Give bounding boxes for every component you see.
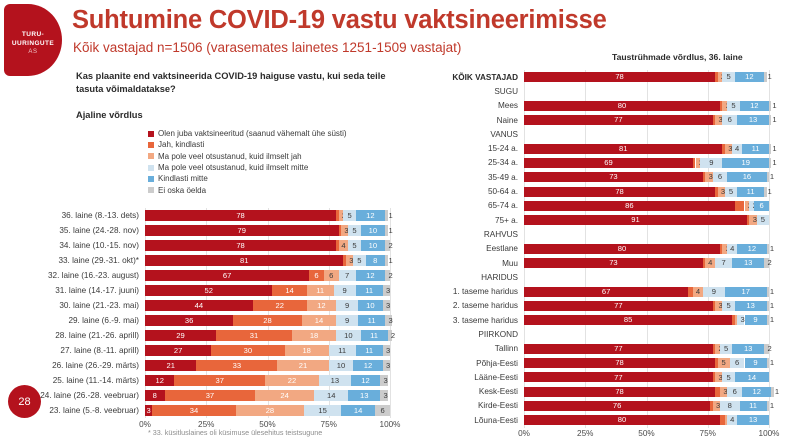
bar-segment: 1: [767, 287, 769, 297]
bar-segment-value: 24: [280, 392, 288, 400]
chart-row-label: HARIDUS: [424, 273, 524, 282]
bar-segment: 6: [324, 270, 339, 281]
chart-bar-row: PIIRKOND: [424, 327, 769, 341]
bar-segment: 69: [524, 158, 693, 168]
legend-swatch-icon: [148, 187, 154, 193]
bar-segment: 81: [524, 144, 722, 154]
bar-segment-value: 12: [750, 102, 758, 110]
bar-segment: 9: [745, 358, 767, 368]
stacked-bar: 78125121: [145, 210, 390, 221]
chart-bar-row: Tallinn77125132: [424, 342, 769, 356]
bar-segment-value: 77: [614, 345, 622, 353]
bar-segment-value: 85: [624, 316, 632, 324]
bar-segment-value: 9: [345, 302, 349, 310]
bar-segment-value: 3: [384, 377, 388, 385]
footnote: * 33. küsitluslaines oli küsimuse üleseh…: [148, 428, 322, 437]
stacked-bar: 77125132: [524, 344, 769, 354]
bar-segment-value: 4: [341, 242, 345, 250]
bar-segment: 3: [341, 225, 348, 236]
bar-segment: 11: [742, 144, 769, 154]
bar-segment: 10: [358, 300, 383, 311]
bar-segment: 4: [705, 258, 715, 268]
bar-segment: 3: [380, 390, 387, 401]
bar-segment-value: 1: [770, 288, 774, 296]
chart-bar-row: Kesk-Eesti78236121: [424, 385, 769, 399]
stacked-bar: 79135101: [145, 225, 390, 236]
bar-segment: 7: [715, 258, 732, 268]
bar-segment-value: 11: [370, 332, 378, 340]
bar-segment-value: 1: [767, 73, 771, 81]
bar-segment: 1: [767, 172, 769, 182]
chart-bar-row: 30. laine (21.-23. mai)4422129103: [2, 298, 390, 313]
bar-segment: 30: [211, 345, 285, 356]
bar-segment-value: 5: [726, 73, 730, 81]
bar-segment-value: 2: [388, 242, 392, 250]
bar-segment-value: 10: [369, 242, 377, 250]
bar-segment: 2: [764, 258, 769, 268]
bar-segment: 36: [145, 315, 233, 326]
right-chart-taustruhmade-vordlus: KÕIK VASTAJAD78125121SUGUMees80125121Nai…: [424, 70, 769, 441]
legend-item-label: Ma pole veel otsustanud, kuid ilmselt mi…: [158, 163, 308, 172]
bar-segment: 6: [722, 115, 737, 125]
bar-segment-value: 91: [631, 216, 639, 224]
bar-segment: 6: [713, 172, 728, 182]
bar-segment-value: 11: [338, 347, 346, 355]
bar-segment: 12: [735, 72, 764, 82]
chart-bar-row: 1. taseme haridus67249171: [424, 284, 769, 298]
bar-segment: 77: [524, 344, 713, 354]
chart-row-label: RAHVUS: [424, 230, 524, 239]
bar-segment-value: 7: [722, 259, 726, 267]
bar-segment-value: 5: [722, 359, 726, 367]
bar-segment-value: 5: [731, 102, 735, 110]
bar-segment-value: 6: [314, 272, 318, 280]
legend-item-label: Ma pole veel otsustanud, kuid ilmselt ja…: [158, 152, 302, 161]
bar-segment-value: 22: [288, 377, 296, 385]
chart-row-label: 50-64 a.: [424, 187, 524, 196]
bar-segment-value: 3: [386, 302, 390, 310]
chart-bar-row: 26. laine (26.-29. märts)21332110123: [2, 358, 390, 373]
bar-segment: 5: [757, 215, 769, 225]
bar-segment-value: 1: [388, 212, 392, 220]
bar-segment-value: 81: [240, 257, 248, 265]
bar-segment-value: 5: [357, 257, 361, 265]
bar-segment: 3: [346, 255, 353, 266]
bar-segment: 5: [348, 225, 360, 236]
bar-segment-value: 22: [276, 302, 284, 310]
bar-segment: 27: [145, 345, 211, 356]
stacked-bar: 78125121: [524, 72, 769, 82]
bar-segment: 2: [388, 330, 393, 341]
chart-row-label: Lääne-Eesti: [424, 373, 524, 382]
bar-segment: 44: [145, 300, 253, 311]
bar-segment-value: 11: [365, 347, 373, 355]
bar-segment: 22: [265, 375, 319, 386]
chart-row-label: 26. laine (26.-29. märts): [2, 361, 145, 370]
bar-segment: 17: [725, 287, 767, 297]
chart-row-label: Naine: [424, 116, 524, 125]
bar-segment: 85: [524, 315, 732, 325]
bar-segment: 8: [145, 390, 165, 401]
bar-segment-value: 13: [331, 377, 339, 385]
bar-segment-value: 77: [614, 116, 622, 124]
bar-segment-value: 4: [708, 259, 712, 267]
bar-segment: 15: [304, 405, 341, 416]
chart-row-label: SUGU: [424, 87, 524, 96]
bar-segment: 24: [255, 390, 314, 401]
stacked-bar: 8021413: [524, 415, 769, 425]
bar-segment: 77: [524, 372, 713, 382]
stacked-bar: [524, 272, 769, 282]
bar-segment: 3: [715, 372, 722, 382]
bar-segment-value: 12: [364, 362, 372, 370]
bar-segment-value: 1: [772, 145, 776, 153]
bar-segment-value: 10: [337, 362, 345, 370]
bar-segment: 14: [272, 285, 306, 296]
bar-segment-value: 11: [316, 287, 324, 295]
bar-segment: 4: [735, 201, 745, 211]
bar-segment-value: 2: [767, 259, 771, 267]
bar-segment-value: 76: [613, 402, 621, 410]
bar-segment: 3: [380, 375, 387, 386]
bar-segment-value: 1: [775, 388, 779, 396]
bar-segment: 81: [145, 255, 343, 266]
stacked-bar: 69129191: [524, 158, 769, 168]
bar-segment-value: 13: [749, 116, 757, 124]
chart-row-label: 35-49 a.: [424, 173, 524, 182]
bar-segment-value: 28: [263, 317, 271, 325]
chart-bar-row: 27. laine (8.-11. aprill)27301811113: [2, 343, 390, 358]
bar-segment: 37: [165, 390, 256, 401]
bar-segment-value: 1: [770, 245, 774, 253]
bar-segment-value: 31: [250, 332, 258, 340]
chart-row-label: 32. laine (16.-23. august): [2, 271, 145, 280]
bar-segment: 11: [356, 345, 383, 356]
bar-segment: 3: [737, 315, 744, 325]
bar-segment: 12: [145, 375, 174, 386]
bar-segment: 33: [196, 360, 277, 371]
page-number-badge: 28: [8, 385, 41, 418]
bar-segment-value: 5: [352, 227, 356, 235]
bar-segment: 14: [341, 405, 375, 416]
chart-bar-row: HARIDUS: [424, 270, 769, 284]
bar-segment: 77: [524, 301, 713, 311]
chart-rows: KÕIK VASTAJAD78125121SUGUMees80125121Nai…: [424, 70, 769, 427]
legend-swatch-icon: [148, 153, 154, 159]
logo-line-2: UURINGUTE: [4, 39, 62, 48]
chart-row-label: 33. laine (29.-31. okt)*: [2, 256, 145, 265]
legend-swatch-icon: [148, 131, 154, 137]
stacked-bar: 8511391: [524, 315, 769, 325]
chart-row-label: 36. laine (8.-13. dets): [2, 211, 145, 220]
axis-tick-label: 75%: [700, 429, 716, 438]
bar-segment-value: 21: [299, 362, 307, 370]
bar-segment: 9: [703, 287, 725, 297]
bar-segment-value: 9: [709, 159, 713, 167]
legend-item: Kindlasti mitte: [148, 173, 347, 184]
bar-segment-value: 11: [747, 188, 755, 196]
axis-tick-label: 100%: [380, 420, 401, 429]
stacked-bar: 5214119113: [145, 285, 390, 296]
bar-segment: 3: [720, 387, 727, 397]
chart-row-label: 1. taseme haridus: [424, 287, 524, 296]
bar-segment-value: 5: [347, 212, 351, 220]
bar-segment: 5: [343, 210, 355, 221]
legend-item: Ei oska öelda: [148, 184, 347, 195]
bar-segment: 13: [348, 390, 380, 401]
bar-segment: 78: [524, 187, 715, 197]
bar-segment-value: 9: [753, 359, 757, 367]
x-axis: 0%25%50%75%100%: [524, 427, 769, 441]
bar-segment: 86: [524, 201, 735, 211]
chart-row-label: Põhja-Eesti: [424, 359, 524, 368]
bar-segment-value: 78: [615, 73, 623, 81]
chart-row-label: 35. laine (24.-28. nov): [2, 226, 145, 235]
stacked-bar: 7815691: [524, 358, 769, 368]
logo-line-3: AS: [4, 48, 62, 57]
bar-segment-value: 5: [761, 216, 765, 224]
stacked-bar: 8372414133: [145, 390, 390, 401]
bar-segment: 11: [329, 345, 356, 356]
axis-tick-label: 0%: [518, 429, 530, 438]
bar-segment: 76: [524, 401, 710, 411]
legend-swatch-icon: [148, 165, 154, 171]
bar-segment-value: 2: [388, 272, 392, 280]
bar-segment-value: 1: [770, 173, 774, 181]
bar-segment: 52: [145, 285, 272, 296]
bar-segment: 1: [767, 401, 769, 411]
chart-legend: Olen juba vaktsineeritud (saanud vähemal…: [148, 128, 347, 196]
bar-segment-value: 19: [741, 159, 749, 167]
bar-segment: 4: [727, 244, 737, 254]
bar-segment-value: 86: [625, 202, 633, 210]
legend-swatch-icon: [148, 176, 154, 182]
bar-segment-value: 33: [233, 362, 241, 370]
bar-segment-value: 78: [236, 242, 244, 250]
stacked-bar: 12372213123: [145, 375, 390, 386]
stacked-bar: 81134111: [524, 144, 769, 154]
chart-row-label: 29. laine (6.-9. mai): [2, 316, 145, 325]
bar-segment-value: 14: [327, 392, 335, 400]
bar-segment-value: 52: [204, 287, 212, 295]
bar-segment: 28: [236, 405, 305, 416]
bar-segment-value: 73: [609, 173, 617, 181]
bar-segment-value: 78: [615, 388, 623, 396]
bar-segment-value: 3: [384, 392, 388, 400]
stacked-bar: 73136161: [524, 172, 769, 182]
bar-segment-value: 1: [770, 359, 774, 367]
bar-segment-value: 4: [730, 245, 734, 253]
bar-segment: 13: [732, 258, 764, 268]
bar-segment: 10: [361, 240, 386, 251]
bar-segment-value: 34: [190, 407, 198, 415]
bar-segment: 21: [145, 360, 196, 371]
bar-segment-value: 29: [176, 332, 184, 340]
bar-segment-value: 80: [618, 416, 626, 424]
legend-item: Jah, kindlasti: [148, 139, 347, 150]
legend-item-label: Jah, kindlasti: [158, 140, 204, 149]
bar-segment: 11: [361, 330, 388, 341]
chart-bar-row: 31. laine (14.-17. juuni)5214119113: [2, 283, 390, 298]
bar-segment-value: 77: [614, 302, 622, 310]
stacked-bar: [524, 86, 769, 96]
bar-segment: 9: [334, 285, 356, 296]
bar-segment: 73: [524, 258, 703, 268]
stacked-bar: 864226: [524, 201, 769, 211]
bar-segment: 9: [700, 158, 722, 168]
bar-segment: 3: [383, 360, 390, 371]
bar-segment: 3: [718, 187, 725, 197]
bar-segment: 79: [145, 225, 339, 236]
bar-segment: 12: [353, 360, 382, 371]
stacked-bar: 76138111: [524, 401, 769, 411]
bar-segment: 9: [745, 315, 767, 325]
bar-segment: 12: [307, 300, 336, 311]
bar-segment: 12: [737, 244, 766, 254]
bar-segment-value: 80: [618, 102, 626, 110]
bar-segment-value: 1: [770, 302, 774, 310]
bar-segment: 1: [764, 187, 766, 197]
chart-rows: 36. laine (8.-13. dets)7812512135. laine…: [2, 208, 390, 418]
stacked-bar: 29311810112: [145, 330, 390, 341]
bar-segment: 34: [152, 405, 235, 416]
bar-segment-value: 8: [153, 392, 157, 400]
legend-item: Olen juba vaktsineeritud (saanud vähemal…: [148, 128, 347, 139]
bar-segment-value: 8: [373, 257, 377, 265]
bar-segment: 5: [725, 187, 737, 197]
stacked-bar: 80124121: [524, 244, 769, 254]
chart-row-label: 25. laine (11.-14. märts): [2, 376, 145, 385]
bar-segment-value: 1: [772, 116, 776, 124]
chart-bar-row: KÕIK VASTAJAD78125121: [424, 70, 769, 84]
chart-bar-row: Kirde-Eesti76138111: [424, 399, 769, 413]
bar-segment-value: 3: [386, 287, 390, 295]
chart-bar-row: VANUS: [424, 127, 769, 141]
bar-segment-value: 12: [366, 212, 374, 220]
bar-segment: 9: [336, 300, 358, 311]
bar-segment-value: 8: [728, 402, 732, 410]
stacked-bar: 67667122: [145, 270, 390, 281]
stacked-bar: [524, 329, 769, 339]
bar-segment: 6: [375, 405, 390, 416]
bar-segment-value: 14: [354, 407, 362, 415]
legend-swatch-icon: [148, 142, 154, 148]
bar-segment-value: 6: [381, 407, 385, 415]
bar-segment-value: 7: [345, 272, 349, 280]
bar-segment: 6: [727, 387, 742, 397]
bar-segment-value: 78: [236, 212, 244, 220]
chart-bar-row: 24. laine (26.-28. veebruar)8372414133: [2, 388, 390, 403]
chart-row-label: 28. laine (21.-26. aprill): [2, 331, 145, 340]
bar-segment: 10: [329, 360, 354, 371]
bar-segment-value: 12: [753, 388, 761, 396]
bar-segment: 11: [307, 285, 334, 296]
bar-segment-value: 18: [302, 347, 310, 355]
bar-segment-value: 13: [746, 302, 754, 310]
bar-segment: 9: [336, 315, 358, 326]
bar-segment: 1: [767, 244, 769, 254]
axis-tick-label: 25%: [577, 429, 593, 438]
bar-segment-value: 6: [718, 173, 722, 181]
right-chart-section-label: Taustrühmade võrdlus, 36. laine: [612, 52, 743, 62]
bar-segment-value: 2: [767, 345, 771, 353]
bar-segment-value: 1: [767, 188, 771, 196]
chart-row-label: KÕIK VASTAJAD: [424, 73, 524, 82]
bar-segment: 4: [339, 240, 349, 251]
chart-row-label: 3. taseme haridus: [424, 316, 524, 325]
stacked-bar: 78135111: [524, 187, 769, 197]
bar-segment: 12: [356, 270, 385, 281]
stacked-bar: 77136131: [524, 115, 769, 125]
bar-segment-value: 28: [266, 407, 274, 415]
bar-segment: 28: [233, 315, 302, 326]
bar-segment-value: 13: [744, 259, 752, 267]
stacked-bar: 3342815146: [145, 405, 390, 416]
bar-segment-value: 11: [749, 402, 757, 410]
bar-segment: 2: [385, 240, 390, 251]
bar-segment-value: 6: [728, 116, 732, 124]
bar-segment: 5: [718, 358, 730, 368]
chart-row-label: Tallinn: [424, 344, 524, 353]
bar-segment: 14: [735, 372, 769, 382]
bar-segment-value: 12: [155, 377, 163, 385]
bar-segment: 8: [366, 255, 386, 266]
bar-segment: 5: [353, 255, 365, 266]
bar-segment: 14: [314, 390, 348, 401]
bar-segment: 3: [725, 144, 732, 154]
bar-segment-value: 1: [388, 257, 392, 265]
bar-segment-value: 6: [735, 359, 739, 367]
stacked-bar: 77135131: [524, 301, 769, 311]
stacked-bar: 8113581: [145, 255, 390, 266]
legend-item-label: Ei oska öelda: [158, 186, 206, 195]
chart-bar-row: 25. laine (11.-14. märts)12372213123: [2, 373, 390, 388]
chart-bar-row: 23. laine (5.-8. veebruar)3342815146: [2, 403, 390, 418]
bar-segment-value: 78: [615, 359, 623, 367]
bar-segment: 7: [339, 270, 356, 281]
bar-segment-value: 14: [748, 374, 756, 382]
chart-bar-row: 35. laine (24.-28. nov)79135101: [2, 223, 390, 238]
bar-segment: 1: [767, 301, 769, 311]
bar-segment: 5: [348, 240, 360, 251]
bar-segment: 1: [385, 225, 387, 236]
bar-segment: 6: [730, 358, 745, 368]
bar-segment: 12: [740, 101, 769, 111]
bar-segment-value: 79: [238, 227, 246, 235]
bar-segment-value: 10: [366, 302, 374, 310]
bar-segment: 8: [720, 401, 740, 411]
bar-segment: 13: [732, 344, 764, 354]
bar-segment: 80: [524, 415, 720, 425]
bar-segment-value: 17: [741, 288, 749, 296]
bar-segment-value: 1: [770, 402, 774, 410]
bar-segment: 4: [732, 144, 742, 154]
bar-segment: 1: [767, 315, 769, 325]
bar-segment-value: 12: [745, 73, 753, 81]
bar-segment-value: 12: [366, 272, 374, 280]
bar-segment-value: 37: [206, 392, 214, 400]
axis-tick-label: 100%: [759, 429, 780, 438]
chart-row-label: 25-34 a.: [424, 158, 524, 167]
bar-segment-value: 1: [772, 159, 776, 167]
bar-segment: 78: [524, 72, 715, 82]
chart-bar-row: 65-74 a.864226: [424, 199, 769, 213]
bar-segment: 1: [769, 144, 771, 154]
chart-row-label: 31. laine (14.-17. juuni): [2, 286, 145, 295]
bar-segment: 77: [524, 115, 713, 125]
bar-segment-value: 4: [735, 145, 739, 153]
bar-segment-value: 10: [369, 227, 377, 235]
